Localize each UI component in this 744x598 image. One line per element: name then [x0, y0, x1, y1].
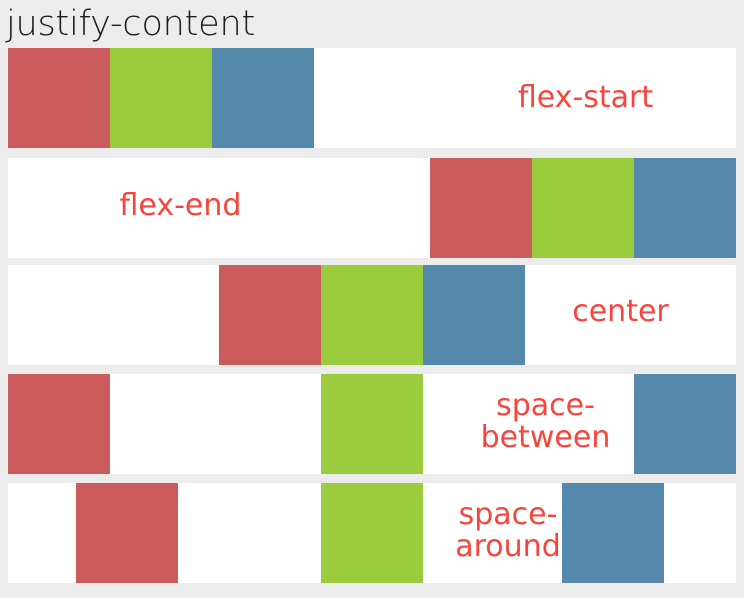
flex-item-red [219, 265, 321, 365]
demo-row-space-between: space- between [8, 374, 736, 474]
flex-item-blue [634, 158, 736, 258]
flex-item-blue [634, 374, 736, 474]
row-label-flex-start: flex-start [463, 82, 708, 114]
flex-item-blue [423, 265, 525, 365]
flex-item-green [321, 374, 423, 474]
flex-item-blue [562, 483, 664, 583]
flex-item-green [532, 158, 634, 258]
demo-row-center: center [8, 265, 736, 365]
demo-row-flex-end: flex-end [8, 158, 736, 258]
flex-item-red [8, 374, 110, 474]
flex-item-green [321, 483, 423, 583]
demo-row-flex-start: flex-start [8, 48, 736, 148]
page-title: justify-content [6, 2, 606, 46]
flex-item-red [76, 483, 178, 583]
row-label-flex-end: flex-end [58, 190, 303, 222]
flex-item-green [321, 265, 423, 365]
row-label-center: center [528, 296, 713, 328]
row-label-space-between: space- between [438, 390, 653, 454]
justify-content-demo-page: justify-content flex-startflex-endcenter… [0, 0, 744, 598]
flex-item-red [430, 158, 532, 258]
flex-item-red [8, 48, 110, 148]
flex-item-blue [212, 48, 314, 148]
demo-row-space-around: space- around [8, 483, 736, 583]
flex-item-green [110, 48, 212, 148]
